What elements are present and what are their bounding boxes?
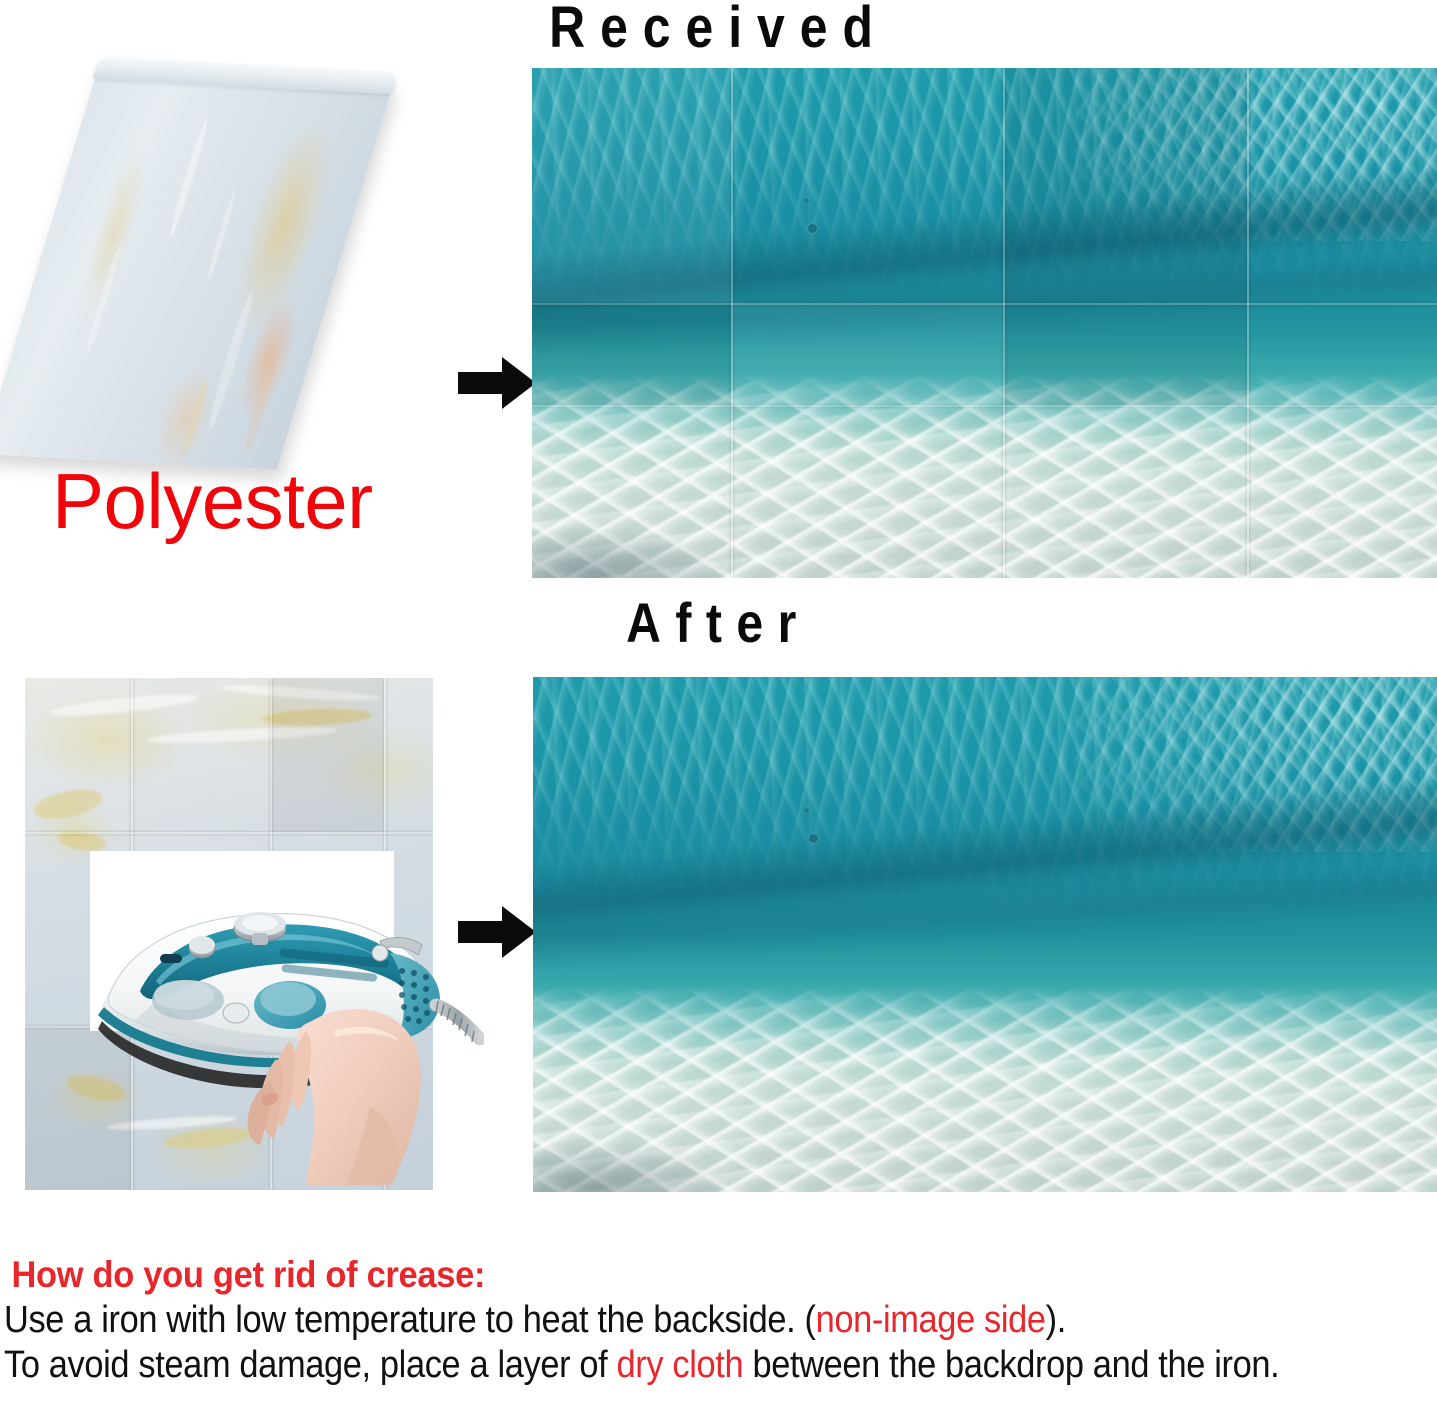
water-bubble [809, 834, 818, 843]
seabed-shadow [532, 527, 731, 578]
after-backdrop-photo [533, 677, 1437, 1192]
folded-fabric-swatch [0, 64, 395, 469]
instruction-1-text-a: Use a iron with low temperature to heat … [4, 1299, 816, 1341]
water-bubble [808, 224, 817, 233]
instruction-1-text-b: non-image side [816, 1299, 1046, 1341]
seabed-shadow [533, 1141, 732, 1193]
instructions-block: How do you get rid of crease: Use a iron… [4, 1252, 1437, 1388]
received-section-title: Received [101, 0, 1337, 60]
polyester-label: Polyester [52, 458, 373, 544]
iron-photo-card [90, 851, 394, 1031]
received-backdrop-photo [532, 68, 1437, 578]
instruction-2-text-b: dry cloth [617, 1344, 744, 1386]
instruction-line-2: To avoid steam damage, place a layer of … [4, 1343, 1301, 1388]
water-bubble [804, 198, 809, 203]
instructions-heading: How do you get rid of crease: [4, 1252, 1337, 1298]
polyester-swatch-image [8, 62, 428, 482]
instruction-2-text-a: To avoid steam damage, place a layer of [4, 1344, 617, 1386]
arrow-right-icon [458, 903, 536, 961]
after-section-title: After [101, 592, 1337, 654]
arrow-right-icon [458, 354, 536, 412]
instruction-2-text-c: between the backdrop and the iron. [743, 1344, 1279, 1386]
instruction-line-1: Use a iron with low temperature to heat … [4, 1298, 1301, 1343]
instruction-1-text-c: ). [1046, 1299, 1066, 1341]
